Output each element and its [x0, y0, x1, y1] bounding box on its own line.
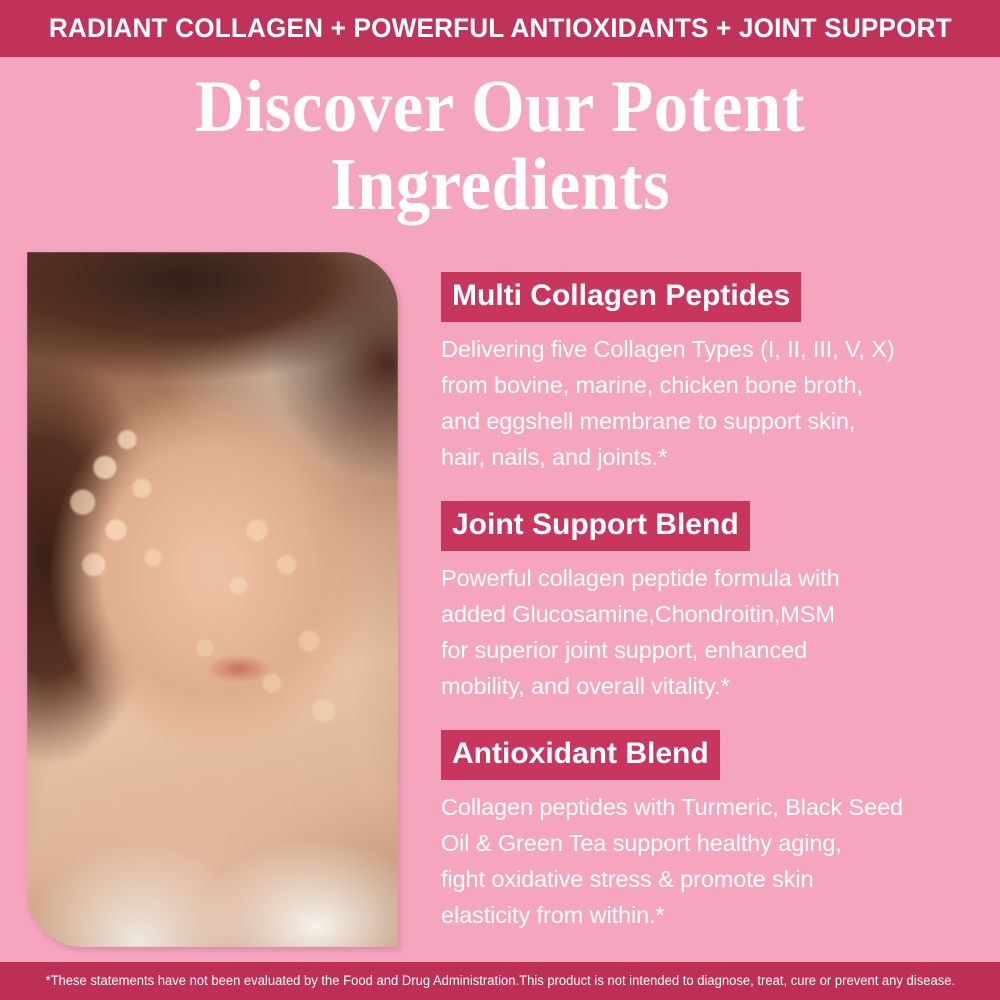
section-body-line: Oil & Green Tea support healthy aging,	[441, 825, 981, 861]
section-body-line: hair, nails, and joints.*	[441, 439, 981, 475]
ingredients-infographic: RADIANT COLLAGEN + POWERFUL ANTIOXIDANTS…	[0, 0, 1000, 1000]
section-heading-badge: Antioxidant Blend	[441, 730, 720, 780]
ingredient-section-antioxidant-blend: Antioxidant Blend Collagen peptides with…	[441, 730, 981, 933]
section-body: Delivering five Collagen Types (I, II, I…	[441, 331, 981, 475]
section-body-line: for superior joint support, enhanced	[441, 632, 981, 668]
ingredient-section-joint-support-blend: Joint Support Blend Powerful collagen pe…	[441, 501, 981, 704]
section-body-line: elasticity from within.*	[441, 897, 981, 933]
footer-disclaimer-text: *These statements have not been evaluate…	[45, 974, 955, 988]
section-body-line: fight oxidative stress & promote skin	[441, 861, 981, 897]
section-body-line: from bovine, marine, chicken bone broth,	[441, 367, 981, 403]
page-title: Discover Our Potent Ingredients	[0, 68, 1000, 224]
page-title-line-1: Discover Our Potent	[35, 68, 965, 146]
top-banner-text: RADIANT COLLAGEN + POWERFUL ANTIOXIDANTS…	[49, 13, 952, 44]
section-body: Powerful collagen peptide formula with a…	[441, 560, 981, 704]
footer-disclaimer-bar: *These statements have not been evaluate…	[0, 962, 1000, 1000]
section-body-line: added Glucosamine,Chondroitin,MSM	[441, 596, 981, 632]
ingredient-sections: Multi Collagen Peptides Delivering five …	[441, 272, 981, 933]
model-photo	[27, 252, 398, 947]
section-body: Collagen peptides with Turmeric, Black S…	[441, 789, 981, 933]
ingredient-section-multi-collagen-peptides: Multi Collagen Peptides Delivering five …	[441, 272, 981, 475]
section-body-line: Powerful collagen peptide formula with	[441, 560, 981, 596]
section-body-line: Collagen peptides with Turmeric, Black S…	[441, 789, 981, 825]
section-body-line: Delivering five Collagen Types (I, II, I…	[441, 331, 981, 367]
section-heading-badge: Joint Support Blend	[441, 501, 750, 551]
section-body-line: and eggshell membrane to support skin,	[441, 403, 981, 439]
top-banner: RADIANT COLLAGEN + POWERFUL ANTIOXIDANTS…	[0, 0, 1000, 57]
section-heading-badge: Multi Collagen Peptides	[441, 272, 801, 322]
model-photo-image	[27, 252, 398, 947]
page-title-line-2: Ingredients	[35, 146, 965, 224]
section-body-line: mobility, and overall vitality.*	[441, 668, 981, 704]
